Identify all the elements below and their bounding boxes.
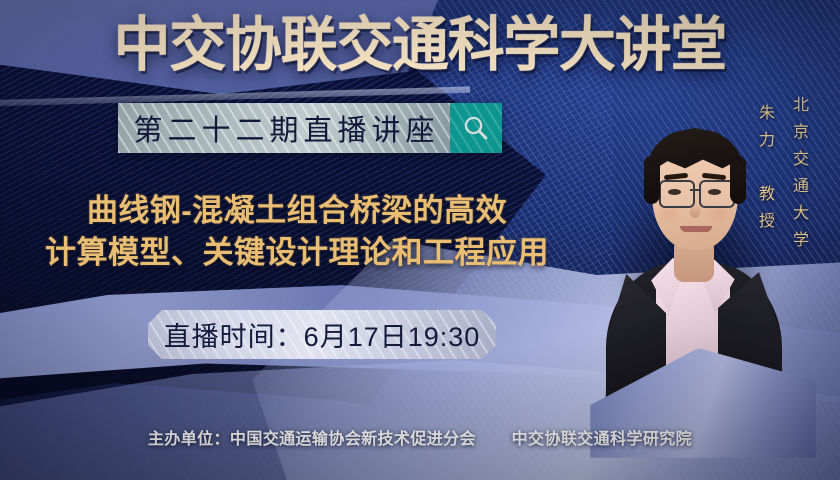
page-title: 中交协联交通科学大讲堂 <box>17 14 823 76</box>
footer-institute: 中交协联交通科学研究院 <box>512 431 692 448</box>
portrait-cheek-right <box>710 208 728 220</box>
webinar-poster: 中交协联交通科学大讲堂 第二十二期直播讲座 曲线钢-混凝土组合桥梁的高效 计算模… <box>0 0 840 480</box>
search-icon <box>461 113 491 143</box>
broadcast-time-text: 直播时间：6月17日19:30 <box>164 315 481 354</box>
portrait-hair-side-right <box>730 156 746 204</box>
lecture-title: 曲线钢-混凝土组合桥梁的高效 计算模型、关键设计理论和工程应用 <box>8 190 586 274</box>
footer-organizer-label: 主办单位：中国交通运输协会新技术促进分会 <box>148 431 476 448</box>
portrait-nose <box>690 204 700 218</box>
portrait-glasses-bridge <box>690 189 700 191</box>
search-button[interactable] <box>450 103 502 153</box>
speaker-affiliation: 北京交通大学 <box>786 96 810 258</box>
speaker-name: 朱力 教授 <box>752 104 776 239</box>
lecture-title-line-2: 计算模型、关键设计理论和工程应用 <box>8 232 586 274</box>
portrait-cheek-left <box>660 208 678 220</box>
lecture-title-line-1: 曲线钢-混凝土组合桥梁的高效 <box>8 190 586 232</box>
footer-organizers: 主办单位：中国交通运输协会新技术促进分会 中交协联交通科学研究院 <box>0 425 840 449</box>
broadcast-time-badge: 直播时间：6月17日19:30 <box>148 310 496 359</box>
episode-label: 第二十二期直播讲座 <box>128 107 439 149</box>
episode-banner: 第二十二期直播讲座 <box>118 103 502 153</box>
episode-label-plate: 第二十二期直播讲座 <box>118 103 450 153</box>
portrait-mouth <box>680 226 712 232</box>
